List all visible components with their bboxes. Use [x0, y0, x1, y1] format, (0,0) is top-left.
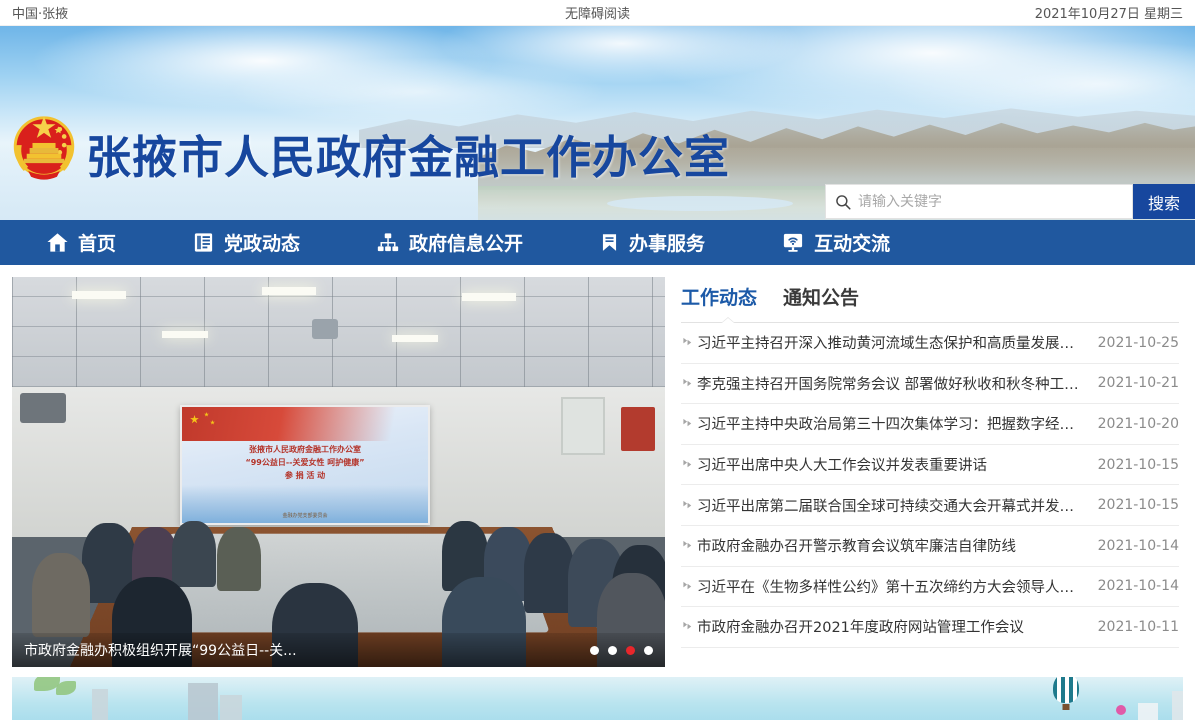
tab-work-updates[interactable]: 工作动态 — [681, 283, 757, 312]
arrow-bullet-icon — [681, 378, 695, 389]
site-search[interactable]: 搜索 — [825, 184, 1195, 219]
arrow-bullet-icon — [681, 500, 695, 511]
arrow-bullet-icon — [681, 459, 695, 470]
search-input[interactable] — [858, 185, 1124, 218]
accent-dot — [1116, 705, 1126, 715]
arrow-bullet-icon — [681, 621, 695, 632]
news-date: 2021-10-21 — [1098, 375, 1179, 391]
news-date: 2021-10-15 — [1098, 457, 1179, 473]
arrow-bullet-icon — [681, 581, 695, 592]
screen-text: 张掖市人民政府金融工作办公室 “99公益日--关爱女性 呵护健康” 参 捐 活 … — [182, 443, 428, 482]
news-title[interactable]: 习近平在《生物多样性公约》第十五次缔约方大会领导人峰... — [697, 576, 1098, 597]
search-icon — [834, 193, 852, 211]
carousel-dot-1[interactable] — [590, 646, 599, 655]
search-field-wrapper[interactable] — [825, 184, 1133, 219]
monitor-wifi-icon — [781, 231, 805, 254]
carousel-dot-3[interactable] — [626, 646, 635, 655]
building-shape — [1172, 691, 1183, 720]
news-list-item[interactable]: 习近平主持召开深入推动黄河流域生态保护和高质量发展座... 2021-10-25 — [681, 323, 1179, 364]
news-title[interactable]: 习近平出席第二届联合国全球可持续交通大会开幕式并发表... — [697, 495, 1098, 516]
screen-text-line-2: “99公益日--关爱女性 呵护健康” — [182, 456, 428, 469]
active-tab-caret-icon — [721, 317, 735, 323]
site-header: 张掖市人民政府金融工作办公室 搜索 — [0, 26, 1195, 220]
nav-item-services[interactable]: 办事服务 — [599, 229, 705, 256]
wall-panel — [561, 397, 605, 455]
arrow-bullet-icon — [681, 418, 695, 429]
ceiling — [12, 277, 665, 387]
news-date: 2021-10-14 — [1098, 538, 1179, 554]
news-title[interactable]: 习近平主持召开深入推动黄河流域生态保护和高质量发展座... — [697, 332, 1098, 353]
ceiling-light — [392, 335, 438, 342]
flag-graphic — [182, 407, 428, 441]
news-date: 2021-10-20 — [1098, 416, 1179, 432]
building-shape — [92, 689, 108, 720]
site-location: 中国·张掖 — [12, 3, 68, 22]
news-list-item[interactable]: 李克强主持召开国务院常务会议 部署做好秋收和秋冬种工作... 2021-10-2… — [681, 364, 1179, 405]
top-utility-bar: 中国·张掖 无障碍阅读 2021年10月27日 星期三 — [0, 0, 1195, 26]
carousel-slide-image: 张掖市人民政府金融工作办公室 “99公益日--关爱女性 呵护健康” 参 捐 活 … — [12, 277, 665, 667]
screen-text-line-3: 参 捐 活 动 — [182, 469, 428, 482]
carousel-dot-2[interactable] — [608, 646, 617, 655]
carousel-caption: 市政府金融办积极组织开展“99公益日--关... — [24, 640, 590, 660]
nav-label-interaction: 互动交流 — [814, 229, 890, 256]
home-icon — [46, 231, 69, 254]
nav-item-interaction[interactable]: 互动交流 — [781, 229, 890, 256]
attendee — [32, 553, 90, 637]
carousel-dot-4[interactable] — [644, 646, 653, 655]
nav-item-home[interactable]: 首页 — [46, 229, 116, 256]
arrow-bullet-icon — [681, 337, 695, 348]
wall-poster — [621, 407, 655, 451]
nav-item-party-news[interactable]: 党政动态 — [192, 229, 300, 256]
ceiling-light — [162, 331, 208, 338]
news-title[interactable]: 市政府金融办召开2021年度政府网站管理工作会议 — [697, 616, 1098, 637]
building-shape — [188, 683, 218, 720]
attendee — [217, 527, 261, 591]
page-title: 张掖市人民政府金融工作办公室 — [86, 121, 730, 186]
ceiling-light — [72, 291, 126, 299]
promo-banner[interactable] — [12, 677, 1183, 720]
screen-text-line-1: 张掖市人民政府金融工作办公室 — [182, 443, 428, 456]
news-panel: 工作动态 通知公告 习近平主持召开深入推动黄河流域生态保护和高质量发展座... … — [677, 277, 1183, 667]
screen-footer: 金融办党支部委员会 — [182, 512, 428, 519]
arrow-bullet-icon — [681, 540, 695, 551]
news-date: 2021-10-11 — [1098, 619, 1179, 635]
attendee — [524, 533, 574, 613]
news-title[interactable]: 习近平主持中央政治局第三十四次集体学习：把握数字经济... — [697, 413, 1098, 434]
news-list: 习近平主持召开深入推动黄河流域生态保护和高质量发展座... 2021-10-25… — [677, 323, 1183, 648]
ceiling-light — [462, 293, 516, 301]
news-tabs: 工作动态 通知公告 — [677, 283, 1183, 322]
news-list-item[interactable]: 习近平在《生物多样性公约》第十五次缔约方大会领导人峰... 2021-10-14 — [681, 567, 1179, 608]
main-navigation: 首页 党政动态 — [0, 220, 1195, 265]
ceiling-light — [262, 287, 316, 295]
building-shape — [1138, 703, 1158, 720]
carousel-dots[interactable] — [590, 646, 653, 655]
book-icon — [192, 231, 215, 254]
nav-label-gov-info: 政府信息公开 — [409, 229, 523, 256]
sitemap-icon — [376, 231, 400, 254]
bookmark-icon — [599, 231, 620, 254]
news-list-item[interactable]: 习近平主持中央政治局第三十四次集体学习：把握数字经济... 2021-10-20 — [681, 404, 1179, 445]
tab-announcements[interactable]: 通知公告 — [783, 283, 859, 312]
projector — [312, 319, 338, 339]
attendee — [172, 521, 216, 587]
news-date: 2021-10-14 — [1098, 578, 1179, 594]
main-content: 张掖市人民政府金融工作办公室 “99公益日--关爱女性 呵护健康” 参 捐 活 … — [0, 265, 1195, 667]
news-date: 2021-10-15 — [1098, 497, 1179, 513]
current-date: 2021年10月27日 星期三 — [1035, 3, 1183, 22]
accessibility-link[interactable]: 无障碍阅读 — [565, 3, 630, 22]
nav-item-gov-info[interactable]: 政府信息公开 — [376, 229, 523, 256]
nav-label-services: 办事服务 — [629, 229, 705, 256]
news-list-item[interactable]: 市政府金融办召开2021年度政府网站管理工作会议 2021-10-11 — [681, 607, 1179, 648]
nav-label-home: 首页 — [78, 229, 116, 256]
news-carousel[interactable]: 张掖市人民政府金融工作办公室 “99公益日--关爱女性 呵护健康” 参 捐 活 … — [12, 277, 665, 667]
nav-label-party-news: 党政动态 — [224, 229, 300, 256]
search-button[interactable]: 搜索 — [1133, 184, 1195, 219]
tab-divider — [681, 322, 1179, 323]
news-list-item[interactable]: 习近平出席中央人大工作会议并发表重要讲话 2021-10-15 — [681, 445, 1179, 486]
hot-air-balloon-icon — [1053, 677, 1079, 703]
news-title[interactable]: 李克强主持召开国务院常务会议 部署做好秋收和秋冬种工作... — [697, 373, 1098, 394]
wall-speaker — [20, 393, 66, 423]
china-national-emblem — [8, 109, 80, 187]
leaf-decoration — [56, 681, 76, 695]
projection-screen: 张掖市人民政府金融工作办公室 “99公益日--关爱女性 呵护健康” 参 捐 活 … — [180, 405, 430, 525]
news-list-item[interactable]: 习近平出席第二届联合国全球可持续交通大会开幕式并发表... 2021-10-15 — [681, 485, 1179, 526]
building-shape — [220, 695, 242, 720]
news-title[interactable]: 习近平出席中央人大工作会议并发表重要讲话 — [697, 454, 1098, 475]
carousel-caption-bar: 市政府金融办积极组织开展“99公益日--关... — [12, 633, 665, 667]
news-title[interactable]: 市政府金融办召开警示教育会议筑牢廉洁自律防线 — [697, 535, 1098, 556]
news-date: 2021-10-25 — [1098, 335, 1179, 351]
news-list-item[interactable]: 市政府金融办召开警示教育会议筑牢廉洁自律防线 2021-10-14 — [681, 526, 1179, 567]
